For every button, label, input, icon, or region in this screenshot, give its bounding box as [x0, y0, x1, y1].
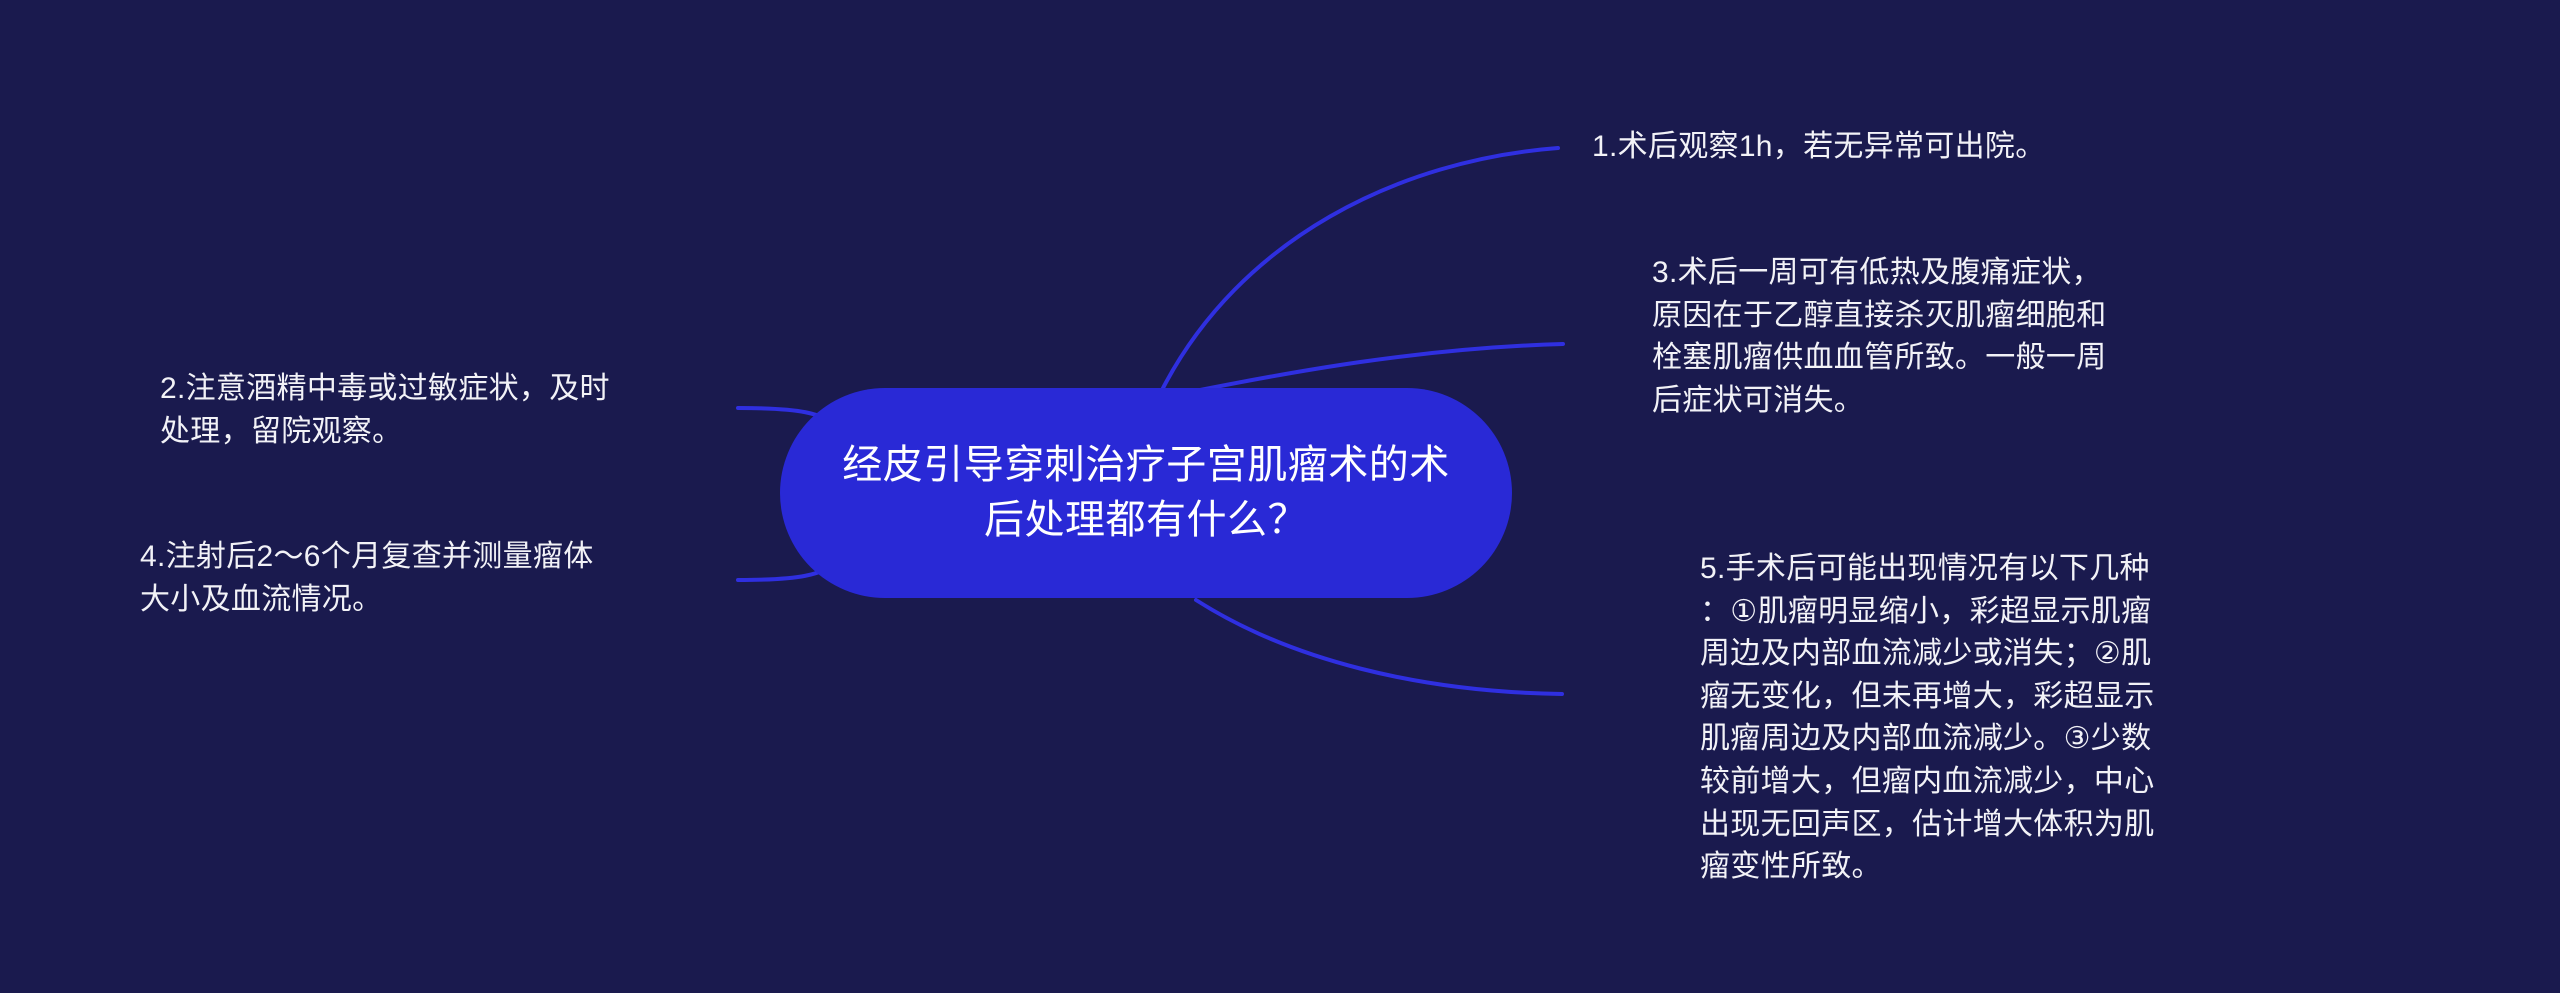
branch-node-5[interactable]: 5.手术后可能出现情况有以下几种 ：①肌瘤明显缩小，彩超显示肌瘤 周边及内部血流…: [1700, 548, 2260, 889]
central-node[interactable]: 经皮引导穿刺治疗子宫肌瘤术的术后处理都有什么？: [780, 388, 1512, 598]
connector-to-branch-3: [1190, 344, 1563, 392]
mindmap-canvas: 经皮引导穿刺治疗子宫肌瘤术的术后处理都有什么？ 1.术后观察1h，若无异常可出院…: [0, 0, 2560, 993]
central-node-label: 经皮引导穿刺治疗子宫肌瘤术的术后处理都有什么？: [834, 438, 1458, 548]
branch-node-4[interactable]: 4.注射后2～6个月复查并测量瘤体 大小及血流情况。: [140, 536, 700, 621]
branch-node-1[interactable]: 1.术后观察1h，若无异常可出院。: [1592, 126, 2212, 169]
connector-to-branch-1: [1162, 148, 1558, 390]
connector-to-branch-5: [1196, 600, 1562, 694]
branch-node-2[interactable]: 2.注意酒精中毒或过敏症状，及时 处理，留院观察。: [160, 368, 700, 453]
branch-node-3[interactable]: 3.术后一周可有低热及腹痛症状， 原因在于乙醇直接杀灭肌瘤细胞和 栓塞肌瘤供血血…: [1652, 252, 2212, 422]
